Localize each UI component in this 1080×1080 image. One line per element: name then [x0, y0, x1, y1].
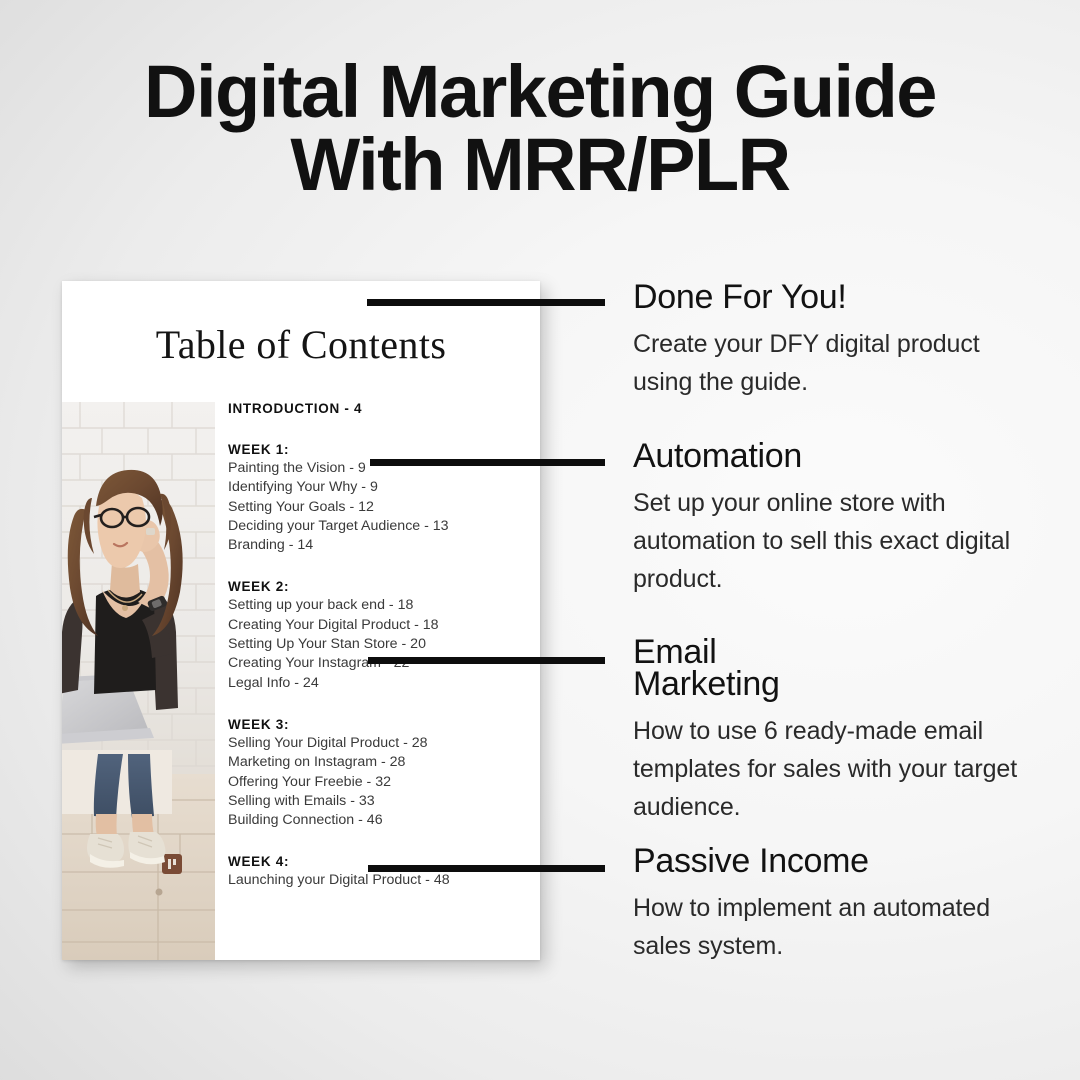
toc-item: Selling with Emails - 33 [228, 792, 528, 811]
toc-item: Branding - 14 [228, 536, 528, 555]
feature-done-for-you: Done For You! Create your DFY digital pr… [633, 281, 1033, 401]
feature-email-marketing: Email Marketing How to use 6 ready-made … [633, 636, 1033, 826]
toc-intro-entry: INTRODUCTION - 4 [228, 401, 528, 416]
toc-item: Legal Info - 24 [228, 674, 528, 693]
feature-title: Email Marketing [633, 636, 853, 700]
table-of-contents-card: Table of Contents [62, 281, 540, 960]
toc-item: Setting Your Goals - 12 [228, 498, 528, 517]
toc-item: Identifying Your Why - 9 [228, 478, 528, 497]
toc-item: Setting up your back end - 18 [228, 596, 528, 615]
toc-group-week-4: WEEK 4: Launching your Digital Product -… [228, 854, 528, 890]
feature-title: Passive Income [633, 845, 1033, 877]
feature-body: Set up your online store with automation… [633, 484, 1033, 598]
connector-line-email-marketing [368, 657, 605, 664]
feature-body: How to implement an automated sales syst… [633, 889, 1033, 965]
page-title-line-1: Digital Marketing Guide [0, 56, 1080, 129]
feature-passive-income: Passive Income How to implement an autom… [633, 845, 1033, 965]
toc-group-heading: WEEK 3: [228, 717, 528, 732]
page-title-line-2: With MRR/PLR [0, 129, 1080, 202]
page-title: Digital Marketing Guide With MRR/PLR [0, 56, 1080, 201]
toc-group-week-3: WEEK 3: Selling Your Digital Product - 2… [228, 717, 528, 830]
toc-item: Creating Your Digital Product - 18 [228, 616, 528, 635]
connector-line-passive-income [368, 865, 605, 872]
toc-group-week-2: WEEK 2: Setting up your back end - 18 Cr… [228, 579, 528, 692]
toc-group-heading: WEEK 2: [228, 579, 528, 594]
toc-item: Marketing on Instagram - 28 [228, 753, 528, 772]
table-of-contents-heading: Table of Contents [62, 321, 540, 368]
feature-body: How to use 6 ready-made email templates … [633, 712, 1033, 826]
connector-line-automation [370, 459, 605, 466]
connector-line-done-for-you [367, 299, 605, 306]
toc-item: Launching your Digital Product - 48 [228, 871, 528, 890]
toc-item: Deciding your Target Audience - 13 [228, 517, 528, 536]
toc-item: Selling Your Digital Product - 28 [228, 734, 528, 753]
feature-title: Done For You! [633, 281, 1033, 313]
toc-item: Building Connection - 46 [228, 811, 528, 830]
feature-body: Create your DFY digital product using th… [633, 325, 1033, 401]
feature-title: Automation [633, 440, 1033, 472]
toc-item: Offering Your Freebie - 32 [228, 773, 528, 792]
toc-group-heading: WEEK 1: [228, 442, 528, 457]
toc-item: Setting Up Your Stan Store - 20 [228, 635, 528, 654]
woman-with-laptop-photo [62, 402, 215, 960]
toc-entries: INTRODUCTION - 4 WEEK 1: Painting the Vi… [228, 401, 528, 891]
feature-automation: Automation Set up your online store with… [633, 440, 1033, 598]
